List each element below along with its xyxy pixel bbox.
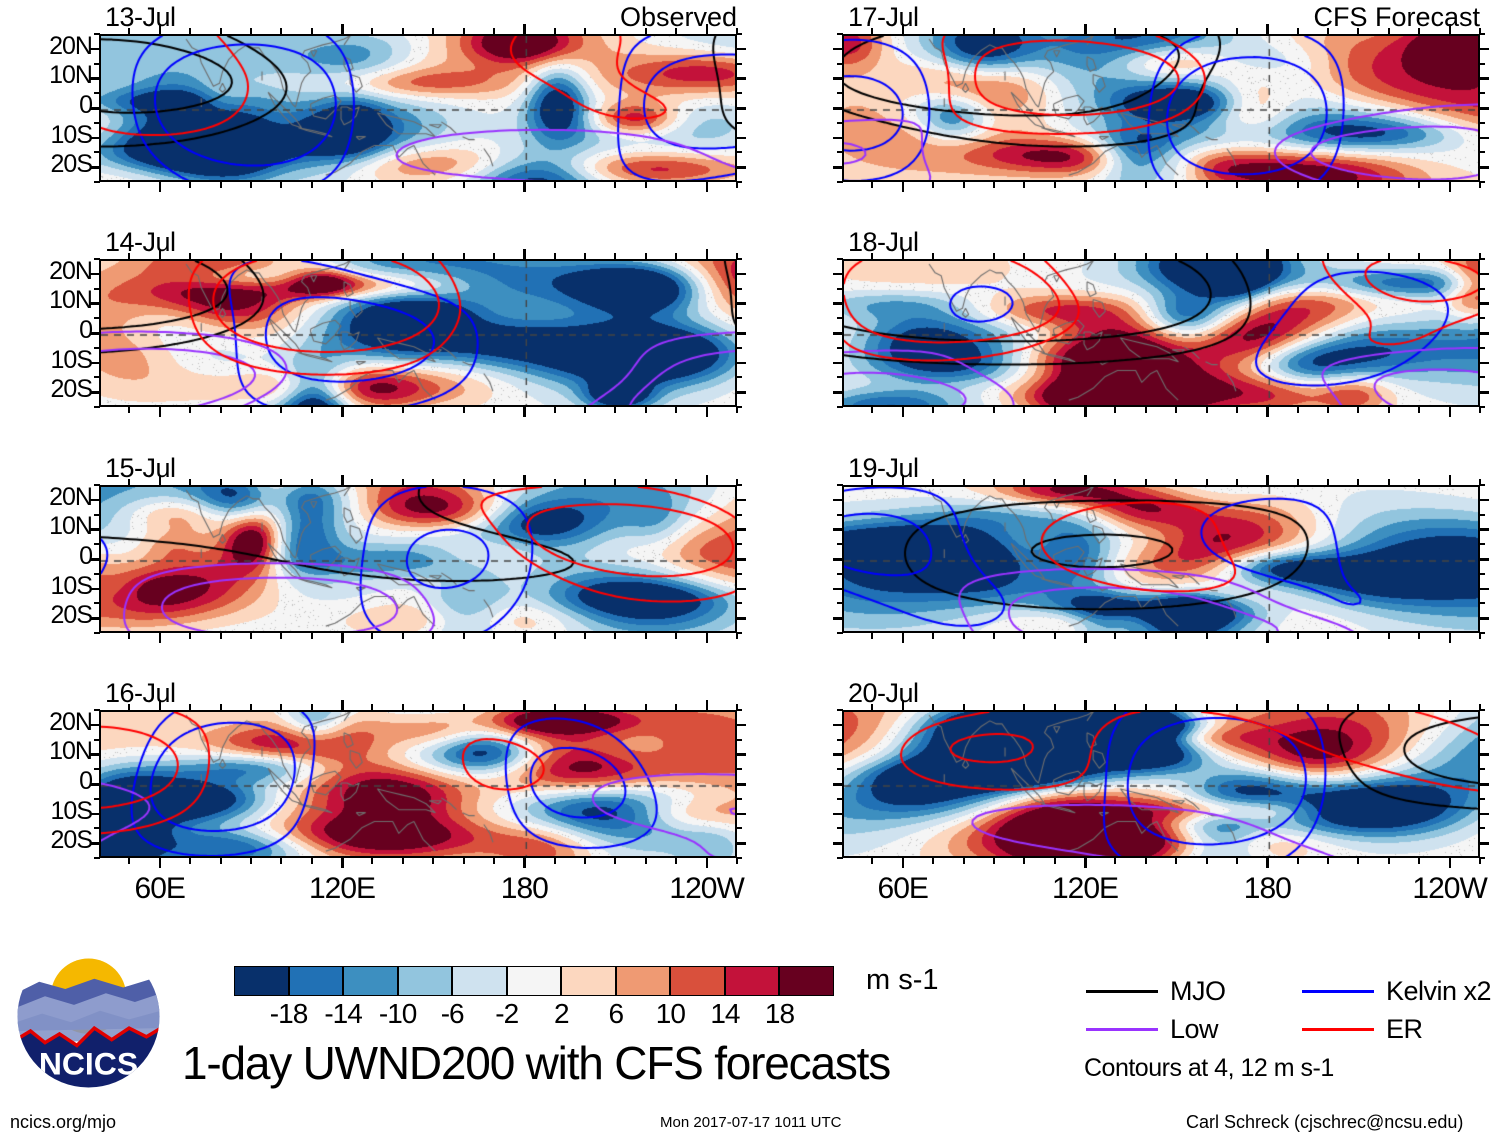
ytick bbox=[833, 302, 843, 305]
xtick bbox=[1084, 475, 1087, 486]
xtick bbox=[584, 406, 586, 413]
ytick bbox=[94, 406, 100, 408]
xtick bbox=[1145, 28, 1147, 35]
xtick bbox=[463, 857, 465, 864]
xtick bbox=[1357, 181, 1359, 188]
xtick bbox=[463, 632, 465, 639]
xtick bbox=[1388, 479, 1390, 486]
map-canvas bbox=[844, 487, 1480, 633]
xtick bbox=[614, 181, 616, 188]
xtick bbox=[993, 632, 995, 639]
xtick bbox=[932, 406, 934, 413]
ytick bbox=[736, 783, 746, 786]
xtick bbox=[250, 479, 252, 486]
ytick bbox=[833, 813, 843, 816]
contour-note: Contours at 4, 12 m s-1 bbox=[1084, 1054, 1334, 1083]
xtick bbox=[1236, 704, 1238, 711]
xtick bbox=[280, 253, 282, 260]
xtick bbox=[311, 181, 313, 188]
colorbar-segment-6 bbox=[561, 966, 616, 996]
xtick bbox=[736, 704, 738, 711]
ytick bbox=[94, 122, 100, 124]
ytick bbox=[736, 391, 746, 394]
xtick bbox=[1054, 479, 1056, 486]
xtick bbox=[1479, 253, 1481, 260]
ytick bbox=[736, 77, 746, 80]
xtick bbox=[1145, 181, 1147, 188]
xtick bbox=[250, 857, 252, 864]
xtick bbox=[463, 253, 465, 260]
xtick bbox=[993, 406, 995, 413]
colorbar-segment-0 bbox=[234, 966, 289, 996]
xtick bbox=[220, 28, 222, 35]
ytick bbox=[736, 753, 746, 756]
ytick bbox=[833, 107, 843, 110]
xtick bbox=[463, 704, 465, 711]
xtick bbox=[1206, 857, 1208, 864]
xtick bbox=[993, 181, 995, 188]
ytick bbox=[1479, 317, 1485, 319]
figure-title: 1-day UWND200 with CFS forecasts bbox=[182, 1036, 890, 1090]
xtick bbox=[432, 406, 434, 413]
xtick bbox=[932, 704, 934, 711]
xtick bbox=[371, 253, 373, 260]
xtick bbox=[645, 857, 647, 864]
ytick bbox=[94, 92, 100, 94]
xtick bbox=[1327, 181, 1329, 188]
ytick bbox=[1479, 92, 1485, 94]
xtick bbox=[614, 253, 616, 260]
xtick bbox=[736, 632, 738, 639]
ytick bbox=[837, 122, 843, 124]
xtick bbox=[1388, 857, 1390, 864]
xtick bbox=[523, 406, 526, 417]
legend-label-low: Low bbox=[1170, 1014, 1218, 1045]
xtick bbox=[1266, 406, 1269, 417]
xtick bbox=[1357, 406, 1359, 413]
legend-line-kelvin-x2 bbox=[1302, 990, 1374, 993]
ytick bbox=[94, 317, 100, 319]
xtick bbox=[1114, 406, 1116, 413]
xtick bbox=[1449, 632, 1452, 643]
ytick bbox=[94, 573, 100, 575]
xtick bbox=[1206, 479, 1208, 486]
ytick bbox=[736, 362, 746, 365]
xtick bbox=[371, 181, 373, 188]
map-panel-18-jul-forecast bbox=[842, 259, 1480, 407]
xtick bbox=[1479, 406, 1481, 413]
xtick bbox=[1114, 479, 1116, 486]
ytick bbox=[833, 588, 843, 591]
ytick bbox=[1479, 302, 1489, 305]
colorbar-units: m s-1 bbox=[866, 964, 939, 997]
xtick bbox=[280, 479, 282, 486]
ytick bbox=[833, 753, 843, 756]
ytick bbox=[1479, 724, 1489, 727]
ytick bbox=[833, 332, 843, 335]
ytick bbox=[1479, 48, 1489, 51]
xtick bbox=[1145, 704, 1147, 711]
xtick bbox=[993, 857, 995, 864]
xtick bbox=[1418, 181, 1420, 188]
xtick bbox=[1479, 181, 1481, 188]
xtick bbox=[1327, 406, 1329, 413]
xtick bbox=[1449, 24, 1452, 35]
xlabel-120e-col1: 120E bbox=[1015, 872, 1155, 906]
ytick bbox=[837, 768, 843, 770]
xtick bbox=[706, 24, 709, 35]
xtick bbox=[1054, 28, 1056, 35]
xtick bbox=[1175, 632, 1177, 639]
xtick bbox=[675, 704, 677, 711]
ncics-logo: NCICS bbox=[16, 944, 161, 1089]
xtick bbox=[1145, 632, 1147, 639]
xtick bbox=[311, 632, 313, 639]
xtick bbox=[1479, 857, 1481, 864]
legend-label-mjo: MJO bbox=[1170, 976, 1226, 1007]
ytick bbox=[1479, 842, 1489, 845]
xtick bbox=[371, 479, 373, 486]
xtick bbox=[614, 632, 616, 639]
ytick bbox=[736, 122, 742, 124]
xtick bbox=[250, 253, 252, 260]
xtick bbox=[736, 181, 738, 188]
xtick bbox=[614, 704, 616, 711]
xtick bbox=[189, 704, 191, 711]
ytick bbox=[736, 558, 746, 561]
xtick bbox=[1266, 249, 1269, 260]
ylabel-10s: 10S bbox=[0, 572, 92, 601]
xtick bbox=[736, 479, 738, 486]
ytick bbox=[837, 798, 843, 800]
xtick bbox=[1479, 632, 1481, 639]
xtick bbox=[902, 181, 905, 192]
xtick bbox=[463, 406, 465, 413]
map-panel-15-jul-observed bbox=[99, 485, 737, 633]
ytick bbox=[837, 288, 843, 290]
ytick bbox=[833, 166, 843, 169]
xtick bbox=[614, 406, 616, 413]
xtick bbox=[645, 28, 647, 35]
colorbar-segment-10 bbox=[779, 966, 834, 996]
ytick bbox=[837, 33, 843, 35]
legend-label-kelvin-x2: Kelvin x2 bbox=[1386, 976, 1491, 1007]
xtick bbox=[159, 632, 162, 643]
xtick bbox=[902, 632, 905, 643]
xtick bbox=[963, 28, 965, 35]
ytick bbox=[736, 514, 742, 516]
xtick bbox=[1418, 253, 1420, 260]
xtick bbox=[493, 406, 495, 413]
ylabel-10s: 10S bbox=[0, 346, 92, 375]
xtick bbox=[1023, 406, 1025, 413]
xtick bbox=[189, 479, 191, 486]
xtick bbox=[584, 253, 586, 260]
xtick bbox=[311, 28, 313, 35]
map-panel-14-jul-observed bbox=[99, 259, 737, 407]
ytick bbox=[1479, 288, 1485, 290]
xtick bbox=[1084, 249, 1087, 260]
xtick bbox=[584, 181, 586, 188]
xtick bbox=[1297, 704, 1299, 711]
xtick bbox=[250, 28, 252, 35]
xtick bbox=[932, 479, 934, 486]
ytick bbox=[736, 347, 742, 349]
ytick bbox=[837, 632, 843, 634]
xtick bbox=[1206, 181, 1208, 188]
ytick bbox=[736, 288, 742, 290]
xtick bbox=[706, 406, 709, 417]
xtick bbox=[1297, 253, 1299, 260]
xtick bbox=[1327, 28, 1329, 35]
xtick bbox=[1297, 857, 1299, 864]
logo-text: NCICS bbox=[39, 1046, 138, 1082]
xtick bbox=[932, 857, 934, 864]
xtick bbox=[1236, 253, 1238, 260]
colorbar bbox=[234, 966, 834, 996]
legend-label-er: ER bbox=[1386, 1014, 1423, 1045]
xtick bbox=[432, 479, 434, 486]
xtick bbox=[311, 857, 313, 864]
xtick bbox=[1266, 857, 1269, 868]
xtick bbox=[554, 181, 556, 188]
xtick bbox=[250, 704, 252, 711]
ytick bbox=[736, 724, 746, 727]
ytick bbox=[736, 588, 746, 591]
xtick bbox=[614, 28, 616, 35]
xtick bbox=[493, 704, 495, 711]
xtick bbox=[1357, 704, 1359, 711]
xtick bbox=[1084, 181, 1087, 192]
xtick bbox=[493, 181, 495, 188]
ytick bbox=[94, 709, 100, 711]
xtick bbox=[871, 181, 873, 188]
xtick bbox=[871, 479, 873, 486]
xtick bbox=[1023, 704, 1025, 711]
xtick bbox=[645, 406, 647, 413]
xtick bbox=[1297, 28, 1299, 35]
xtick bbox=[250, 181, 252, 188]
xtick bbox=[402, 479, 404, 486]
xtick bbox=[645, 479, 647, 486]
xtick bbox=[523, 632, 526, 643]
xtick bbox=[128, 28, 130, 35]
ytick bbox=[736, 63, 742, 65]
xtick bbox=[1114, 857, 1116, 864]
xtick bbox=[706, 700, 709, 711]
xtick bbox=[1023, 253, 1025, 260]
xtick bbox=[1479, 704, 1481, 711]
xtick bbox=[1236, 857, 1238, 864]
ylabel-20n: 20N bbox=[0, 257, 92, 286]
ytick bbox=[736, 137, 746, 140]
xtick bbox=[371, 632, 373, 639]
xtick bbox=[584, 857, 586, 864]
xtick bbox=[220, 704, 222, 711]
ytick bbox=[837, 347, 843, 349]
xtick bbox=[706, 475, 709, 486]
ytick bbox=[736, 273, 746, 276]
ytick bbox=[94, 151, 100, 153]
xtick bbox=[1084, 857, 1087, 868]
xtick bbox=[1418, 704, 1420, 711]
ytick bbox=[736, 602, 742, 604]
xtick bbox=[1479, 479, 1481, 486]
ytick bbox=[1479, 602, 1485, 604]
xtick bbox=[1357, 28, 1359, 35]
xtick bbox=[1023, 479, 1025, 486]
ytick bbox=[837, 406, 843, 408]
ytick bbox=[833, 499, 843, 502]
panel-date-17-jul: 17-Jul bbox=[848, 2, 919, 33]
xtick bbox=[871, 704, 873, 711]
xtick bbox=[311, 406, 313, 413]
xlabel-120w-col0: 120W bbox=[637, 872, 777, 906]
footer-center: Mon 2017-07-17 1011 UTC bbox=[660, 1114, 842, 1131]
xtick bbox=[311, 253, 313, 260]
ytick bbox=[1479, 528, 1489, 531]
xtick bbox=[1357, 857, 1359, 864]
xtick bbox=[523, 700, 526, 711]
xtick bbox=[736, 406, 738, 413]
ytick bbox=[833, 362, 843, 365]
ytick bbox=[833, 391, 843, 394]
ytick bbox=[837, 376, 843, 378]
xtick bbox=[493, 632, 495, 639]
xtick bbox=[1206, 406, 1208, 413]
ytick bbox=[1479, 813, 1489, 816]
ytick bbox=[833, 783, 843, 786]
xtick bbox=[1297, 479, 1299, 486]
colorbar-segment-4 bbox=[452, 966, 507, 996]
legend-line-low bbox=[1086, 1028, 1158, 1031]
xtick bbox=[128, 632, 130, 639]
xtick bbox=[1206, 28, 1208, 35]
column-header-forecast: CFS Forecast bbox=[1160, 2, 1480, 33]
xtick bbox=[280, 28, 282, 35]
map-canvas bbox=[101, 36, 737, 182]
xtick bbox=[1114, 253, 1116, 260]
legend-line-mjo bbox=[1086, 990, 1158, 993]
xtick bbox=[523, 181, 526, 192]
xtick bbox=[220, 253, 222, 260]
xtick bbox=[189, 181, 191, 188]
colorbar-segment-2 bbox=[343, 966, 398, 996]
xtick bbox=[220, 857, 222, 864]
map-canvas bbox=[844, 36, 1480, 182]
xtick bbox=[523, 475, 526, 486]
ytick bbox=[1479, 63, 1485, 65]
xtick bbox=[614, 857, 616, 864]
xtick bbox=[706, 857, 709, 868]
xtick bbox=[1145, 406, 1147, 413]
xtick bbox=[523, 249, 526, 260]
xtick bbox=[675, 406, 677, 413]
xtick bbox=[1418, 406, 1420, 413]
ytick bbox=[736, 798, 742, 800]
xlabel-180-col0: 180 bbox=[454, 872, 594, 906]
ytick bbox=[94, 63, 100, 65]
ytick bbox=[736, 617, 746, 620]
xtick bbox=[159, 181, 162, 192]
ytick bbox=[833, 273, 843, 276]
xtick bbox=[902, 249, 905, 260]
ytick bbox=[94, 602, 100, 604]
xtick bbox=[189, 632, 191, 639]
ytick bbox=[1479, 362, 1489, 365]
xtick bbox=[1479, 28, 1481, 35]
xtick bbox=[1297, 406, 1299, 413]
xtick bbox=[189, 253, 191, 260]
xtick bbox=[1418, 857, 1420, 864]
colorbar-segment-9 bbox=[725, 966, 780, 996]
xtick bbox=[871, 857, 873, 864]
ytick bbox=[736, 376, 742, 378]
xtick bbox=[220, 181, 222, 188]
xtick bbox=[1175, 28, 1177, 35]
xtick bbox=[1266, 181, 1269, 192]
ytick bbox=[736, 48, 746, 51]
ytick bbox=[94, 632, 100, 634]
xtick bbox=[523, 857, 526, 868]
xtick bbox=[1266, 24, 1269, 35]
colorbar-segment-8 bbox=[670, 966, 725, 996]
xtick bbox=[554, 857, 556, 864]
xtick bbox=[1054, 406, 1056, 413]
xtick bbox=[932, 181, 934, 188]
ytick bbox=[837, 543, 843, 545]
legend-line-er bbox=[1302, 1028, 1374, 1031]
ylabel-0: 0 bbox=[0, 542, 92, 571]
xtick bbox=[584, 632, 586, 639]
ytick bbox=[837, 573, 843, 575]
ytick bbox=[94, 347, 100, 349]
colorbar-segment-7 bbox=[616, 966, 671, 996]
xtick bbox=[463, 181, 465, 188]
xtick bbox=[250, 632, 252, 639]
ylabel-20s: 20S bbox=[0, 826, 92, 855]
ytick bbox=[1479, 827, 1485, 829]
ytick bbox=[1479, 273, 1489, 276]
ytick bbox=[1479, 739, 1485, 741]
xtick bbox=[280, 704, 282, 711]
ytick bbox=[833, 77, 843, 80]
xtick bbox=[1236, 28, 1238, 35]
xtick bbox=[341, 700, 344, 711]
ytick bbox=[736, 107, 746, 110]
ytick bbox=[837, 602, 843, 604]
xtick bbox=[220, 632, 222, 639]
xtick bbox=[159, 249, 162, 260]
ytick bbox=[837, 92, 843, 94]
xtick bbox=[220, 406, 222, 413]
xtick bbox=[128, 406, 130, 413]
xtick bbox=[189, 406, 191, 413]
xtick bbox=[736, 857, 738, 864]
ytick bbox=[1479, 347, 1485, 349]
xtick bbox=[736, 28, 738, 35]
xtick bbox=[584, 28, 586, 35]
ytick bbox=[1479, 514, 1485, 516]
xtick bbox=[1054, 704, 1056, 711]
ytick bbox=[837, 857, 843, 859]
xtick bbox=[1449, 857, 1452, 868]
xtick bbox=[341, 181, 344, 192]
xtick bbox=[1145, 479, 1147, 486]
xtick bbox=[993, 28, 995, 35]
xtick bbox=[1054, 253, 1056, 260]
xtick bbox=[432, 181, 434, 188]
